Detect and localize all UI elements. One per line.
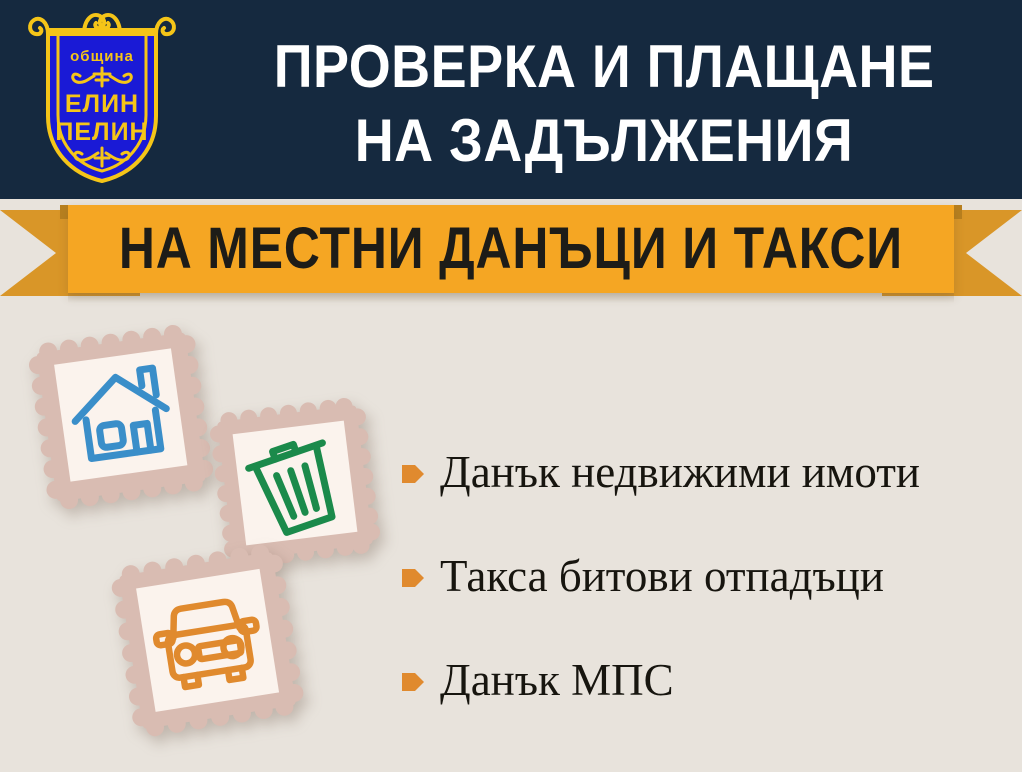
poster-title-line-1: ПРОВЕРКА И ПЛАЩАНЕ [274,30,935,104]
arrow-right-pentagon-icon [402,565,424,591]
subtitle-ribbon: НА МЕСТНИ ДАНЪЦИ И ТАКСИ [0,205,1022,300]
svg-text:община: община [70,48,134,65]
list-item-label: Такса битови отпадъци [440,552,884,600]
ribbon-label: НА МЕСТНИ ДАНЪЦИ И ТАКСИ [119,219,903,279]
arrow-right-pentagon-icon [402,669,424,695]
tax-types-list: Данък недвижими имоти Такса битови отпад… [402,420,1022,732]
list-item: Данък МПС [402,628,1022,732]
municipality-logo: община ЕЛИН ПЕЛИН [22,8,182,190]
stamp-illustrations [0,300,400,772]
list-item: Такса битови отпадъци [402,524,1022,628]
coat-of-arms-icon: община ЕЛИН ПЕЛИН [22,8,182,190]
svg-text:ЕЛИН: ЕЛИН [65,90,139,118]
list-item-label: Данък недвижими имоти [440,448,920,496]
ribbon-shadow [68,293,954,303]
poster-canvas: община ЕЛИН ПЕЛИН ПРОВЕРКА И ПЛАЩАНЕ [0,0,1022,772]
arrow-right-pentagon-icon [402,461,424,487]
poster-title: ПРОВЕРКА И ПЛАЩАНЕ НА ЗАДЪЛЖЕНИЯ [186,14,1022,194]
stamp-card-property [14,310,229,525]
list-item-label: Данък МПС [440,656,674,704]
poster-title-line-2: НА ЗАДЪЛЖЕНИЯ [355,104,853,178]
car-stamp-icon [100,533,315,748]
list-item: Данък недвижими имоти [402,420,1022,524]
stamp-card-vehicle [100,533,315,748]
svg-text:ПЕЛИН: ПЕЛИН [55,118,148,146]
ribbon-banner: НА МЕСТНИ ДАНЪЦИ И ТАКСИ [68,205,954,293]
house-stamp-icon [14,310,229,525]
